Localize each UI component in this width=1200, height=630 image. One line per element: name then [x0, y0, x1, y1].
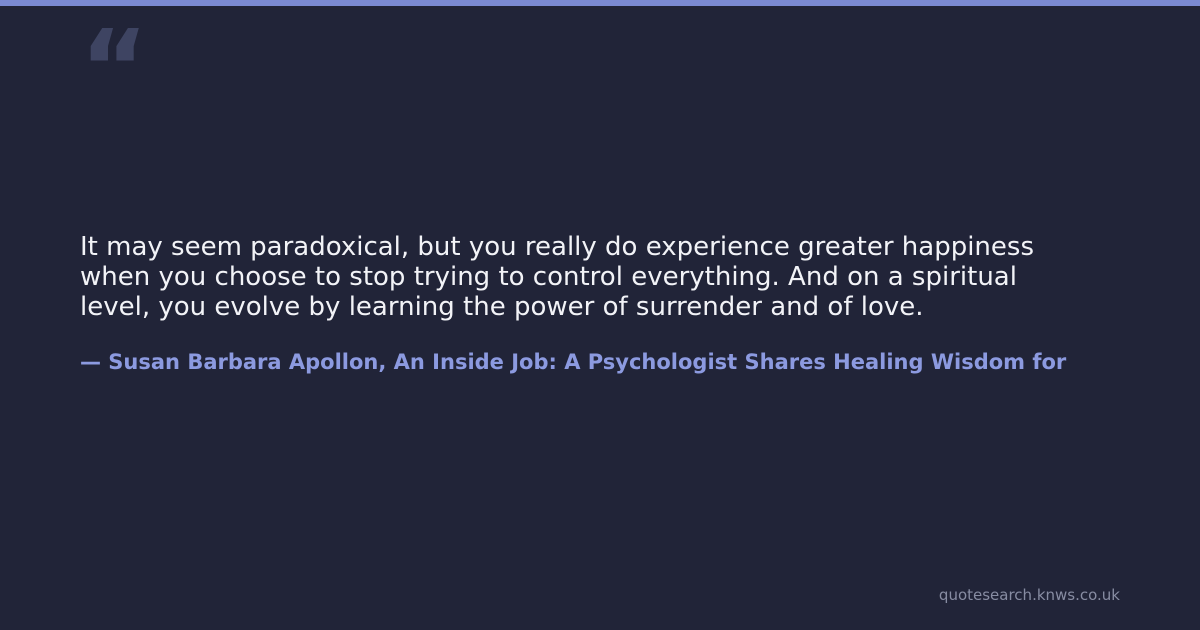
- opening-quotation-mark-icon: “: [80, 16, 146, 120]
- quote-text: It may seem paradoxical, but you really …: [80, 232, 1120, 322]
- quote-card: “ It may seem paradoxical, but you reall…: [0, 0, 1200, 630]
- quote-attribution: — Susan Barbara Apollon, An Inside Job: …: [80, 348, 1200, 376]
- top-accent-bar: [0, 0, 1200, 6]
- source-url: quotesearch.knws.co.uk: [939, 586, 1120, 604]
